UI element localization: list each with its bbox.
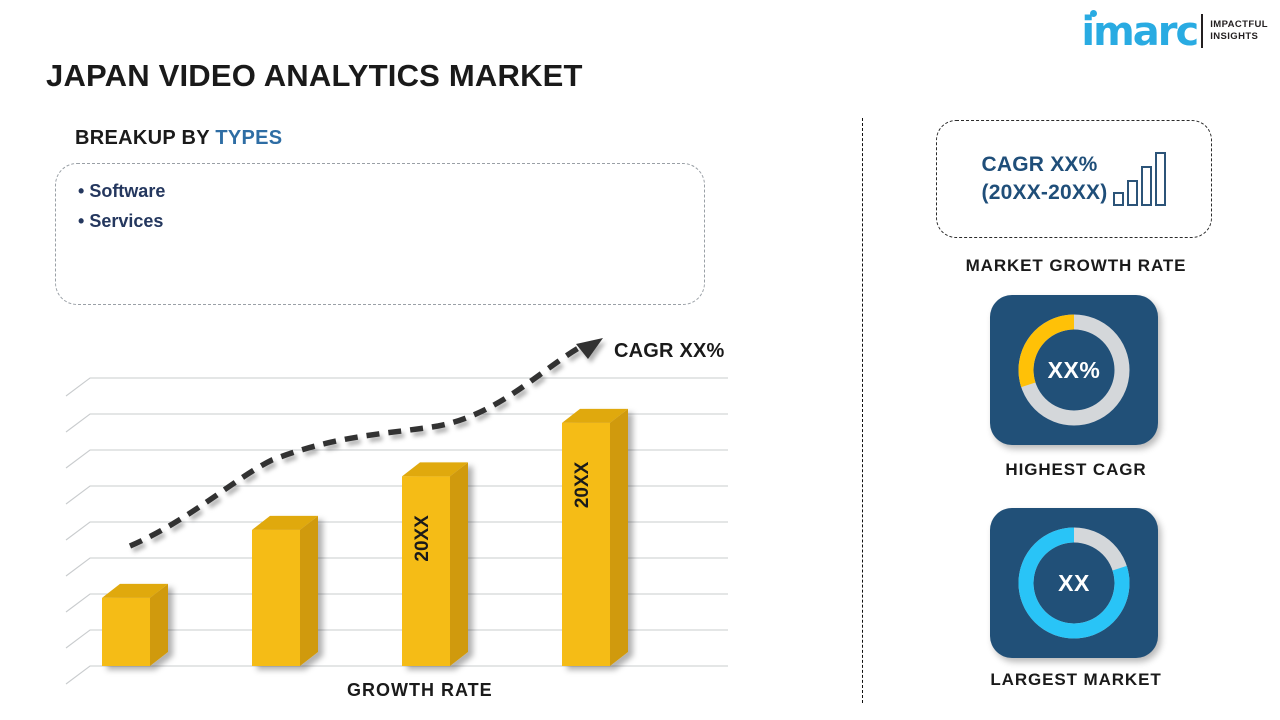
list-item-label: Software <box>89 181 165 201</box>
bar-side-face <box>610 409 628 666</box>
bar-front-face <box>252 530 300 666</box>
bar-chart-icon <box>1113 150 1166 208</box>
growth-rate-bar-chart: 20XX20XX <box>60 330 760 710</box>
chart-canvas: 20XX20XX <box>60 330 760 710</box>
breakup-list: •Software •Services <box>78 176 165 236</box>
bar-chart-icon-bar <box>1141 166 1152 206</box>
infographic-page: imarc IMPACTFUL INSIGHTS JAPAN VIDEO ANA… <box>0 0 1280 720</box>
bar-side-face <box>300 516 318 666</box>
bar <box>252 516 318 666</box>
bar-front-face <box>402 476 450 666</box>
bar-front-face <box>562 423 610 666</box>
breakup-types-box: •Software •Services <box>55 163 705 305</box>
section-subtitle: BREAKUP BY TYPES <box>75 127 282 150</box>
gridline <box>66 450 728 468</box>
market-growth-rate-label: MARKET GROWTH RATE <box>916 256 1236 276</box>
bar-value-label: 20XX <box>572 461 593 508</box>
gridline <box>66 486 728 504</box>
bar-front-face <box>102 598 150 666</box>
bar <box>562 409 628 666</box>
bar-value-label: 20XX <box>412 515 433 562</box>
cagr-value: CAGR XX% <box>982 151 1108 179</box>
bar-side-face <box>150 584 168 666</box>
page-title: JAPAN VIDEO ANALYTICS MARKET <box>46 58 583 94</box>
subtitle-prefix: BREAKUP BY <box>75 127 210 149</box>
bar <box>102 584 168 666</box>
list-item: •Services <box>78 206 165 236</box>
bar-chart-icon-bar <box>1113 192 1124 206</box>
chart-trend-arrow <box>130 338 603 546</box>
largest-market-tile: XX <box>990 508 1158 658</box>
panel-divider <box>862 118 863 703</box>
gridline <box>66 558 728 576</box>
chart-x-axis-label: GROWTH RATE <box>347 680 493 701</box>
bullet-dot-icon: • <box>78 211 84 231</box>
logo-tagline: IMPACTFUL INSIGHTS <box>1210 19 1268 45</box>
list-item: •Software <box>78 176 165 206</box>
list-item-label: Services <box>89 211 163 231</box>
bar-chart-icon-bar <box>1127 180 1138 206</box>
cagr-period: (20XX-20XX) <box>982 179 1108 207</box>
gridline <box>66 522 728 540</box>
market-growth-rate-card: CAGR XX% (20XX-20XX) <box>936 120 1212 238</box>
subtitle-highlight: TYPES <box>215 127 282 149</box>
gridline <box>66 378 728 396</box>
highest-cagr-tile: XX% <box>990 295 1158 445</box>
largest-market-label: LARGEST MARKET <box>916 670 1236 690</box>
bar-side-face <box>450 462 468 666</box>
cagr-card-text: CAGR XX% (20XX-20XX) <box>982 151 1108 207</box>
bar <box>402 462 468 666</box>
imarc-logo: imarc IMPACTFUL INSIGHTS <box>1081 10 1268 54</box>
logo-tagline-line2: INSIGHTS <box>1210 31 1268 43</box>
highest-cagr-label: HIGHEST CAGR <box>916 460 1236 480</box>
largest-market-value: XX <box>990 508 1158 658</box>
logo-text: imarc <box>1081 15 1197 49</box>
highest-cagr-value: XX% <box>990 295 1158 445</box>
logo-wordmark: imarc <box>1081 15 1197 49</box>
logo-tagline-line1: IMPACTFUL <box>1210 19 1268 31</box>
chart-bars <box>102 409 628 666</box>
logo-divider <box>1201 14 1203 48</box>
bullet-dot-icon: • <box>78 181 84 201</box>
trend-arrowhead-icon <box>576 338 603 359</box>
bar-chart-icon-bar <box>1155 152 1166 206</box>
trend-line <box>130 346 582 546</box>
chart-cagr-annotation: CAGR XX% <box>614 340 725 363</box>
